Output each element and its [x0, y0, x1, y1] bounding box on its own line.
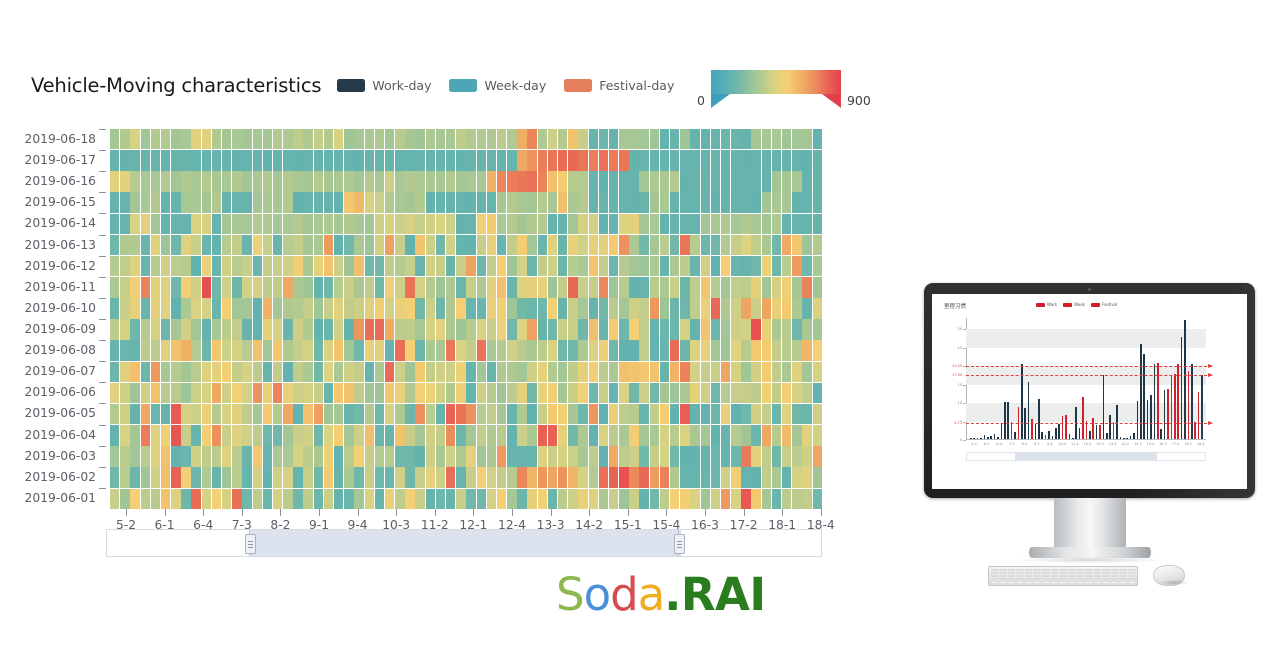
heatmap-cell[interactable] — [212, 425, 222, 445]
heatmap-cell[interactable] — [110, 129, 119, 149]
heatmap-cell[interactable] — [507, 277, 516, 297]
heatmap-cell[interactable] — [232, 150, 241, 170]
heatmap-cell[interactable] — [385, 362, 394, 382]
heatmap-cell[interactable] — [263, 277, 273, 297]
heatmap-cell[interactable] — [395, 129, 405, 149]
heatmap-cell[interactable] — [365, 150, 375, 170]
heatmap-cell[interactable] — [772, 319, 782, 339]
heatmap-cell[interactable] — [405, 214, 414, 234]
heatmap-cell[interactable] — [395, 383, 405, 403]
heatmap-cell[interactable] — [578, 383, 588, 403]
heatmap-cell[interactable] — [466, 150, 476, 170]
heatmap-cell[interactable] — [395, 340, 405, 360]
heatmap-cell[interactable] — [578, 340, 588, 360]
heatmap-cell[interactable] — [293, 383, 303, 403]
heatmap-cell[interactable] — [303, 404, 312, 424]
heatmap-cell[interactable] — [110, 171, 119, 191]
heatmap-cell[interactable] — [568, 467, 578, 487]
heatmap-cell[interactable] — [354, 192, 363, 212]
heatmap-cell[interactable] — [497, 467, 507, 487]
heatmap-cell[interactable] — [232, 467, 241, 487]
heatmap-cell[interactable] — [344, 171, 354, 191]
heatmap-cell[interactable] — [120, 214, 130, 234]
heatmap-cell[interactable] — [385, 171, 394, 191]
heatmap-cell[interactable] — [456, 425, 465, 445]
heatmap-cell[interactable] — [324, 235, 334, 255]
heatmap-cell[interactable] — [263, 446, 273, 466]
heatmap-cell[interactable] — [354, 277, 363, 297]
heatmap-cell[interactable] — [517, 319, 527, 339]
heatmap-cell[interactable] — [446, 171, 456, 191]
heatmap-cell[interactable] — [405, 425, 414, 445]
heatmap-cell[interactable] — [212, 340, 222, 360]
heatmap-cell[interactable] — [660, 171, 669, 191]
heatmap-cell[interactable] — [212, 129, 222, 149]
heatmap-cell[interactable] — [171, 171, 181, 191]
heatmap-cell[interactable] — [711, 192, 720, 212]
heatmap-cell[interactable] — [660, 129, 669, 149]
range-slider-handle-right[interactable] — [674, 534, 685, 554]
heatmap-cell[interactable] — [222, 404, 232, 424]
heatmap-cell[interactable] — [110, 404, 119, 424]
heatmap-cell[interactable] — [517, 446, 527, 466]
heatmap-cell[interactable] — [426, 467, 436, 487]
heatmap-cell[interactable] — [527, 425, 537, 445]
heatmap-cell[interactable] — [405, 319, 414, 339]
heatmap-cell[interactable] — [253, 129, 262, 149]
heatmap-cell[interactable] — [751, 340, 761, 360]
heatmap-cell[interactable] — [538, 446, 547, 466]
heatmap-cell[interactable] — [680, 277, 690, 297]
heatmap-cell[interactable] — [242, 425, 252, 445]
heatmap-cell[interactable] — [222, 467, 232, 487]
heatmap-cell[interactable] — [222, 129, 232, 149]
heatmap-cell[interactable] — [130, 362, 139, 382]
heatmap-cell[interactable] — [527, 298, 537, 318]
heatmap-cell[interactable] — [191, 171, 201, 191]
heatmap-cell[interactable] — [222, 171, 232, 191]
heatmap-cell[interactable] — [385, 319, 394, 339]
heatmap-cell[interactable] — [110, 446, 119, 466]
heatmap-cell[interactable] — [538, 150, 547, 170]
heatmap-cell[interactable] — [354, 171, 363, 191]
heatmap-cell[interactable] — [690, 425, 699, 445]
heatmap-cell[interactable] — [497, 340, 507, 360]
heatmap-cell[interactable] — [161, 404, 171, 424]
heatmap-cell[interactable] — [711, 425, 720, 445]
heatmap-cell[interactable] — [130, 214, 139, 234]
heatmap-cell[interactable] — [436, 235, 445, 255]
heatmap-cell[interactable] — [680, 489, 690, 509]
heatmap-cell[interactable] — [283, 150, 292, 170]
heatmap-cell[interactable] — [283, 129, 292, 149]
heatmap-cell[interactable] — [283, 277, 292, 297]
heatmap-cell[interactable] — [212, 235, 222, 255]
heatmap-cell[interactable] — [395, 362, 405, 382]
heatmap-cell[interactable] — [130, 129, 139, 149]
heatmap-cell[interactable] — [578, 150, 588, 170]
heatmap-cell[interactable] — [314, 446, 324, 466]
heatmap-cell[interactable] — [456, 340, 465, 360]
heatmap-cell[interactable] — [324, 362, 334, 382]
heatmap-cell[interactable] — [202, 383, 211, 403]
heatmap-cell[interactable] — [487, 235, 496, 255]
heatmap-cell[interactable] — [711, 235, 720, 255]
heatmap-cell[interactable] — [354, 129, 363, 149]
heatmap-cell[interactable] — [680, 192, 690, 212]
range-slider-handle-left[interactable] — [245, 534, 256, 554]
heatmap-cell[interactable] — [477, 171, 487, 191]
heatmap-cell[interactable] — [802, 298, 812, 318]
heatmap-cell[interactable] — [487, 362, 496, 382]
heatmap-cell[interactable] — [609, 489, 618, 509]
heatmap-cell[interactable] — [334, 214, 343, 234]
heatmap-cell[interactable] — [151, 404, 160, 424]
heatmap-cell[interactable] — [314, 235, 324, 255]
heatmap-cell[interactable] — [232, 214, 241, 234]
heatmap-cell[interactable] — [303, 171, 312, 191]
heatmap-cell[interactable] — [629, 404, 639, 424]
heatmap-cell[interactable] — [487, 383, 496, 403]
heatmap-cell[interactable] — [650, 446, 660, 466]
heatmap-cell[interactable] — [609, 319, 618, 339]
heatmap-cell[interactable] — [181, 383, 190, 403]
heatmap-cell[interactable] — [650, 171, 660, 191]
heatmap-cell[interactable] — [629, 319, 639, 339]
colorbar[interactable]: 0 900 — [697, 70, 871, 112]
heatmap-cell[interactable] — [568, 425, 578, 445]
heatmap-cell[interactable] — [151, 256, 160, 276]
heatmap-cell[interactable] — [466, 425, 476, 445]
heatmap-cell[interactable] — [548, 425, 558, 445]
heatmap-cell[interactable] — [354, 340, 363, 360]
heatmap-cell[interactable] — [181, 150, 190, 170]
heatmap-cell[interactable] — [415, 256, 425, 276]
heatmap-cell[interactable] — [365, 383, 375, 403]
heatmap-cell[interactable] — [558, 362, 567, 382]
heatmap-cell[interactable] — [314, 340, 324, 360]
heatmap-cell[interactable] — [212, 298, 222, 318]
heatmap-cell[interactable] — [293, 425, 303, 445]
heatmap-cell[interactable] — [232, 489, 241, 509]
heatmap-cell[interactable] — [222, 298, 232, 318]
heatmap-cell[interactable] — [141, 150, 151, 170]
heatmap-cell[interactable] — [497, 235, 507, 255]
heatmap-cell[interactable] — [385, 383, 394, 403]
heatmap-cell[interactable] — [578, 425, 588, 445]
heatmap-cell[interactable] — [578, 235, 588, 255]
heatmap-cell[interactable] — [711, 340, 720, 360]
heatmap-cell[interactable] — [772, 277, 782, 297]
heatmap-cell[interactable] — [436, 214, 445, 234]
heatmap-cell[interactable] — [365, 235, 375, 255]
heatmap-cell[interactable] — [497, 383, 507, 403]
heatmap-cell[interactable] — [222, 256, 232, 276]
heatmap-cell[interactable] — [395, 277, 405, 297]
heatmap-cell[interactable] — [629, 489, 639, 509]
heatmap-cell[interactable] — [782, 362, 792, 382]
heatmap-cell[interactable] — [527, 404, 537, 424]
heatmap-cell[interactable] — [629, 383, 639, 403]
heatmap-cell[interactable] — [171, 277, 181, 297]
heatmap-cell[interactable] — [762, 129, 771, 149]
heatmap-cell[interactable] — [385, 467, 394, 487]
heatmap-cell[interactable] — [151, 319, 160, 339]
heatmap-cell[interactable] — [110, 235, 119, 255]
heatmap-cell[interactable] — [497, 446, 507, 466]
heatmap-cell[interactable] — [568, 404, 578, 424]
heatmap-cell[interactable] — [477, 446, 487, 466]
heatmap-cell[interactable] — [527, 340, 537, 360]
heatmap-cell[interactable] — [405, 446, 414, 466]
heatmap-cell[interactable] — [130, 383, 139, 403]
heatmap-cell[interactable] — [517, 404, 527, 424]
heatmap-cell[interactable] — [619, 298, 629, 318]
heatmap-cell[interactable] — [385, 192, 394, 212]
heatmap-cell[interactable] — [120, 235, 130, 255]
heatmap-cell[interactable] — [202, 150, 211, 170]
heatmap-cell[interactable] — [273, 298, 283, 318]
heatmap-cell[interactable] — [141, 489, 151, 509]
heatmap-cell[interactable] — [446, 214, 456, 234]
heatmap-cell[interactable] — [477, 467, 487, 487]
heatmap-cell[interactable] — [507, 340, 516, 360]
heatmap-cell[interactable] — [446, 129, 456, 149]
heatmap-cell[interactable] — [813, 171, 822, 191]
heatmap-cell[interactable] — [538, 340, 547, 360]
heatmap-cell[interactable] — [721, 129, 731, 149]
heatmap-cell[interactable] — [405, 129, 414, 149]
heatmap-cell[interactable] — [680, 298, 690, 318]
heatmap-cell[interactable] — [120, 362, 130, 382]
heatmap-cell[interactable] — [670, 150, 680, 170]
heatmap-cell[interactable] — [690, 256, 699, 276]
heatmap-cell[interactable] — [151, 235, 160, 255]
heatmap-cell[interactable] — [263, 404, 273, 424]
heatmap-cell[interactable] — [426, 192, 436, 212]
heatmap-cell[interactable] — [344, 129, 354, 149]
heatmap-cell[interactable] — [191, 129, 201, 149]
heatmap-cell[interactable] — [466, 362, 476, 382]
heatmap-cell[interactable] — [538, 319, 547, 339]
heatmap-cell[interactable] — [497, 214, 507, 234]
heatmap-cell[interactable] — [568, 446, 578, 466]
heatmap-cell[interactable] — [792, 214, 801, 234]
heatmap-cell[interactable] — [202, 298, 211, 318]
heatmap-cell[interactable] — [619, 150, 629, 170]
heatmap-cell[interactable] — [426, 446, 436, 466]
heatmap-cell[interactable] — [324, 446, 334, 466]
heatmap-cell[interactable] — [589, 256, 598, 276]
heatmap-cell[interactable] — [507, 298, 516, 318]
heatmap-cell[interactable] — [527, 489, 537, 509]
heatmap-cell[interactable] — [487, 277, 496, 297]
heatmap-cell[interactable] — [701, 298, 711, 318]
heatmap-cell[interactable] — [751, 362, 761, 382]
heatmap-cell[interactable] — [212, 489, 222, 509]
heatmap-cell[interactable] — [538, 425, 547, 445]
heatmap-cell[interactable] — [548, 171, 558, 191]
heatmap-cell[interactable] — [792, 235, 801, 255]
heatmap-cell[interactable] — [650, 129, 660, 149]
heatmap-cell[interactable] — [365, 171, 375, 191]
heatmap-cell[interactable] — [741, 171, 750, 191]
heatmap-cell[interactable] — [222, 340, 232, 360]
heatmap-cell[interactable] — [731, 383, 741, 403]
heatmap-cell[interactable] — [426, 489, 436, 509]
heatmap-cell[interactable] — [303, 319, 312, 339]
heatmap-cell[interactable] — [660, 319, 669, 339]
heatmap-cell[interactable] — [365, 256, 375, 276]
heatmap-cell[interactable] — [762, 404, 771, 424]
heatmap-cell[interactable] — [151, 277, 160, 297]
heatmap-cell[interactable] — [405, 383, 414, 403]
heatmap-cell[interactable] — [212, 362, 222, 382]
heatmap-cell[interactable] — [283, 298, 292, 318]
heatmap-cell[interactable] — [303, 277, 312, 297]
heatmap-cell[interactable] — [253, 277, 262, 297]
heatmap-cell[interactable] — [375, 192, 385, 212]
heatmap-cell[interactable] — [589, 383, 598, 403]
heatmap-cell[interactable] — [324, 277, 334, 297]
heatmap-cell[interactable] — [711, 319, 720, 339]
heatmap-cell[interactable] — [497, 404, 507, 424]
heatmap-cell[interactable] — [639, 319, 648, 339]
heatmap-cell[interactable] — [701, 340, 711, 360]
heatmap-cell[interactable] — [670, 425, 680, 445]
heatmap-cell[interactable] — [161, 192, 171, 212]
heatmap-cell[interactable] — [487, 192, 496, 212]
heatmap-cell[interactable] — [151, 362, 160, 382]
heatmap-cell[interactable] — [354, 235, 363, 255]
heatmap-cell[interactable] — [395, 150, 405, 170]
heatmap-cell[interactable] — [181, 489, 190, 509]
heatmap-cell[interactable] — [344, 319, 354, 339]
heatmap-cell[interactable] — [538, 214, 547, 234]
heatmap-cell[interactable] — [456, 362, 465, 382]
heatmap-cell[interactable] — [263, 256, 273, 276]
heatmap-cell[interactable] — [731, 340, 741, 360]
heatmap-cell[interactable] — [314, 129, 324, 149]
heatmap-cell[interactable] — [456, 467, 465, 487]
heatmap-cell[interactable] — [762, 340, 771, 360]
heatmap-cell[interactable] — [426, 298, 436, 318]
heatmap-cell[interactable] — [120, 129, 130, 149]
heatmap-cell[interactable] — [558, 425, 567, 445]
heatmap-cell[interactable] — [466, 467, 476, 487]
heatmap-cell[interactable] — [721, 214, 731, 234]
heatmap-cell[interactable] — [741, 446, 750, 466]
heatmap-cell[interactable] — [751, 150, 761, 170]
heatmap-cell[interactable] — [762, 277, 771, 297]
range-slider[interactable] — [106, 529, 822, 557]
heatmap-cell[interactable] — [202, 319, 211, 339]
heatmap-cell[interactable] — [538, 277, 547, 297]
heatmap-cell[interactable] — [578, 446, 588, 466]
heatmap-cell[interactable] — [558, 489, 567, 509]
heatmap-cell[interactable] — [303, 383, 312, 403]
heatmap-cell[interactable] — [456, 214, 465, 234]
heatmap-cell[interactable] — [293, 298, 303, 318]
heatmap-cell[interactable] — [629, 256, 639, 276]
heatmap-cell[interactable] — [334, 446, 343, 466]
colorbar-gradient[interactable] — [711, 70, 841, 94]
heatmap-cell[interactable] — [181, 298, 190, 318]
heatmap-cell[interactable] — [222, 235, 232, 255]
heatmap-cell[interactable] — [456, 192, 465, 212]
heatmap-cell[interactable] — [456, 446, 465, 466]
heatmap-cell[interactable] — [365, 319, 375, 339]
heatmap-cell[interactable] — [130, 192, 139, 212]
heatmap-cell[interactable] — [639, 425, 648, 445]
heatmap-cell[interactable] — [701, 383, 711, 403]
heatmap-cell[interactable] — [426, 340, 436, 360]
colorbar-handle-high[interactable] — [822, 94, 841, 108]
heatmap-cell[interactable] — [191, 489, 201, 509]
heatmap-cell[interactable] — [161, 129, 171, 149]
heatmap-cell[interactable] — [507, 150, 516, 170]
heatmap-cell[interactable] — [548, 150, 558, 170]
heatmap-cell[interactable] — [385, 150, 394, 170]
heatmap-cell[interactable] — [130, 171, 139, 191]
heatmap-cell[interactable] — [762, 298, 771, 318]
heatmap-cell[interactable] — [792, 383, 801, 403]
heatmap-cell[interactable] — [141, 319, 151, 339]
heatmap-cell[interactable] — [120, 404, 130, 424]
heatmap-cell[interactable] — [619, 340, 629, 360]
heatmap-cell[interactable] — [466, 192, 476, 212]
heatmap-cell[interactable] — [171, 298, 181, 318]
heatmap-cell[interactable] — [792, 129, 801, 149]
heatmap-cell[interactable] — [273, 446, 283, 466]
heatmap-cell[interactable] — [589, 192, 598, 212]
heatmap-cell[interactable] — [487, 340, 496, 360]
heatmap-cell[interactable] — [232, 277, 241, 297]
heatmap-cell[interactable] — [426, 256, 436, 276]
heatmap-cell[interactable] — [283, 214, 292, 234]
heatmap-cell[interactable] — [507, 383, 516, 403]
heatmap-cell[interactable] — [650, 150, 660, 170]
heatmap-cell[interactable] — [293, 129, 303, 149]
heatmap-cell[interactable] — [701, 171, 711, 191]
heatmap-cell[interactable] — [181, 214, 190, 234]
heatmap-cell[interactable] — [161, 446, 171, 466]
heatmap-cell[interactable] — [802, 404, 812, 424]
heatmap-cell[interactable] — [385, 256, 394, 276]
heatmap-cell[interactable] — [212, 319, 222, 339]
heatmap-cell[interactable] — [385, 404, 394, 424]
heatmap-cell[interactable] — [609, 192, 618, 212]
heatmap-cell[interactable] — [395, 425, 405, 445]
heatmap-cell[interactable] — [762, 235, 771, 255]
heatmap-cell[interactable] — [619, 383, 629, 403]
heatmap-cell[interactable] — [609, 298, 618, 318]
heatmap-cell[interactable] — [405, 298, 414, 318]
heatmap-cell[interactable] — [222, 150, 232, 170]
heatmap-cell[interactable] — [446, 235, 456, 255]
heatmap-cell[interactable] — [324, 404, 334, 424]
heatmap-cell[interactable] — [782, 446, 792, 466]
heatmap-cell[interactable] — [466, 277, 476, 297]
heatmap-cell[interactable] — [232, 404, 241, 424]
heatmap-cell[interactable] — [690, 129, 699, 149]
heatmap-cell[interactable] — [741, 319, 750, 339]
heatmap-cell[interactable] — [283, 256, 292, 276]
heatmap-cell[interactable] — [365, 489, 375, 509]
heatmap-cell[interactable] — [711, 150, 720, 170]
heatmap-cell[interactable] — [802, 256, 812, 276]
heatmap-cell[interactable] — [650, 362, 660, 382]
